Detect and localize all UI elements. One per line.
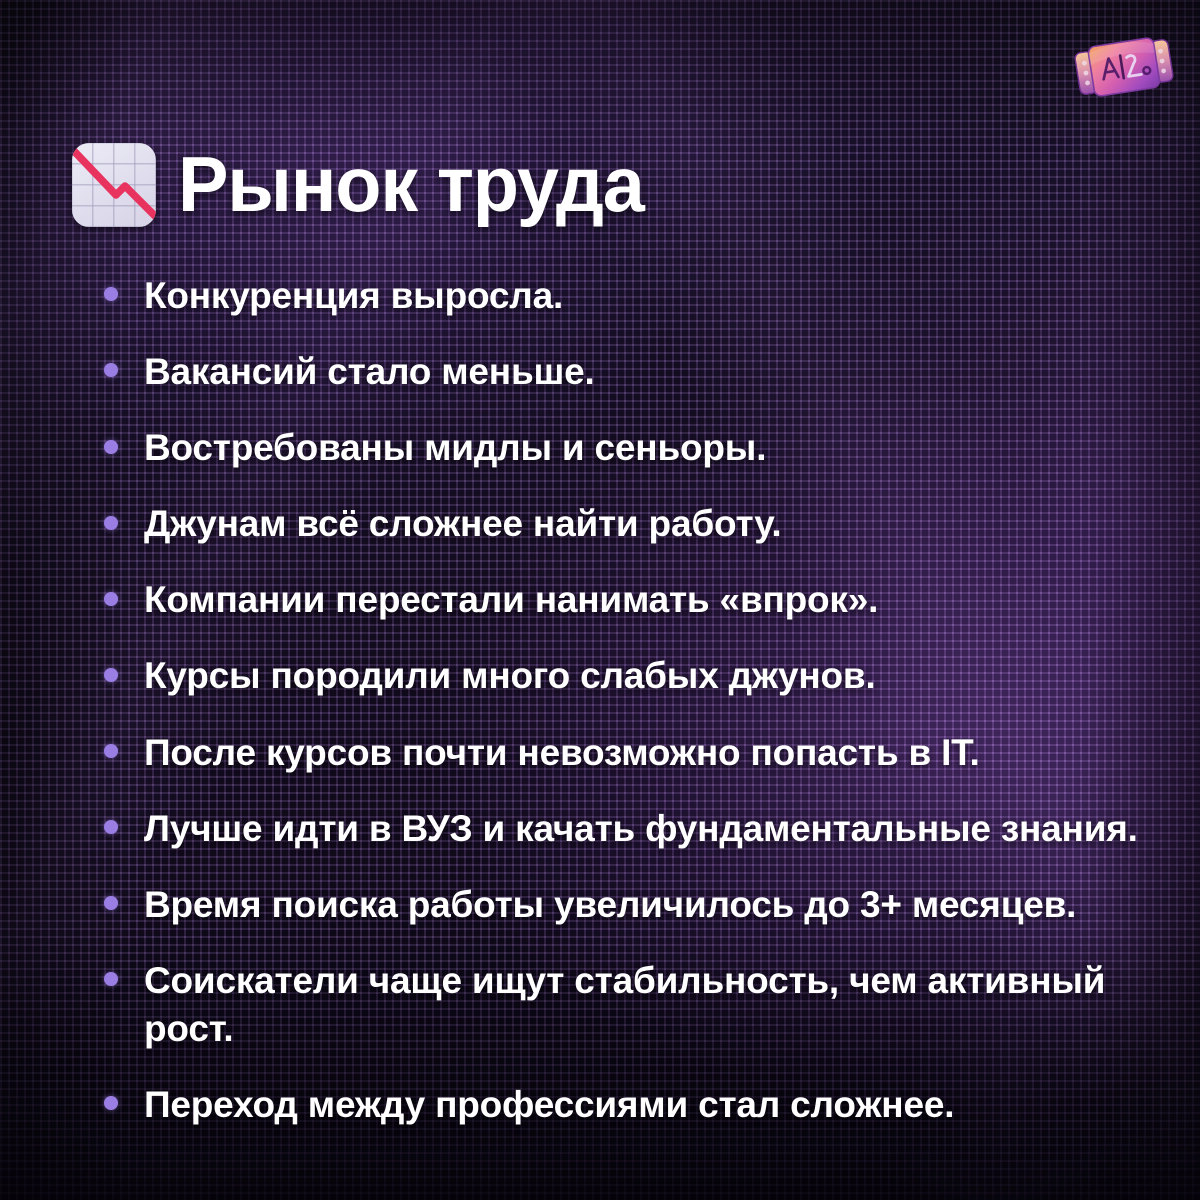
list-item-text: Лучше идти в ВУЗ и качать фундаментальны… [144, 808, 1138, 849]
bullet-dot-icon [104, 516, 118, 530]
handheld-console-logo-icon[interactable] [1072, 29, 1177, 105]
bullet-dot-icon [104, 440, 118, 454]
list-item: Вакансий стало меньше. [104, 348, 1144, 396]
list-item-text: Вакансий стало меньше. [144, 351, 595, 392]
bullet-dot-icon [104, 896, 118, 910]
slide-canvas: Рынок труда Конкуренция выросла. Ваканси… [0, 0, 1200, 1200]
list-item: Время поиска работы увеличилось до 3+ ме… [104, 881, 1144, 929]
bullet-dot-icon [104, 287, 118, 301]
list-item-text: Переход между профессиями стал сложнее. [144, 1084, 954, 1125]
bullet-dot-icon [104, 1096, 118, 1110]
list-item: После курсов почти невозможно попасть в … [104, 729, 1144, 777]
list-item: Джунам всё сложнее найти работу. [104, 500, 1144, 548]
page-title: Рынок труда [178, 148, 644, 221]
bullet-dot-icon [104, 820, 118, 834]
list-item: Конкуренция выросла. [104, 272, 1144, 320]
chart-decreasing-icon [72, 143, 156, 227]
bullet-dot-icon [104, 592, 118, 606]
bullet-dot-icon [104, 668, 118, 682]
list-item: Соискатели чаще ищут стабильность, чем а… [104, 957, 1144, 1053]
title-row: Рынок труда [72, 96, 658, 274]
bullet-dot-icon [104, 972, 118, 986]
list-item-text: Конкуренция выросла. [144, 275, 563, 316]
list-item: Курсы породили много слабых джунов. [104, 652, 1144, 700]
bullet-dot-icon [104, 744, 118, 758]
bullet-list: Конкуренция выросла. Вакансий стало мень… [104, 272, 1144, 1129]
slide-content: Рынок труда Конкуренция выросла. Ваканси… [0, 0, 1200, 1200]
list-item-text: Джунам всё сложнее найти работу. [144, 503, 782, 544]
list-item: Востребованы мидлы и сеньоры. [104, 424, 1144, 472]
list-item-text: Время поиска работы увеличилось до 3+ ме… [144, 884, 1076, 925]
list-item: Переход между профессиями стал сложнее. [104, 1081, 1144, 1129]
list-item: Компании перестали нанимать «впрок». [104, 576, 1144, 624]
list-item-text: После курсов почти невозможно попасть в … [144, 732, 980, 773]
list-item-text: Востребованы мидлы и сеньоры. [144, 427, 766, 468]
bullet-dot-icon [104, 363, 118, 377]
list-item: Лучше идти в ВУЗ и качать фундаментальны… [104, 805, 1144, 853]
list-item-text: Курсы породили много слабых джунов. [144, 655, 876, 696]
list-item-text: Компании перестали нанимать «впрок». [144, 579, 878, 620]
list-item-text: Соискатели чаще ищут стабильность, чем а… [144, 960, 1105, 1049]
